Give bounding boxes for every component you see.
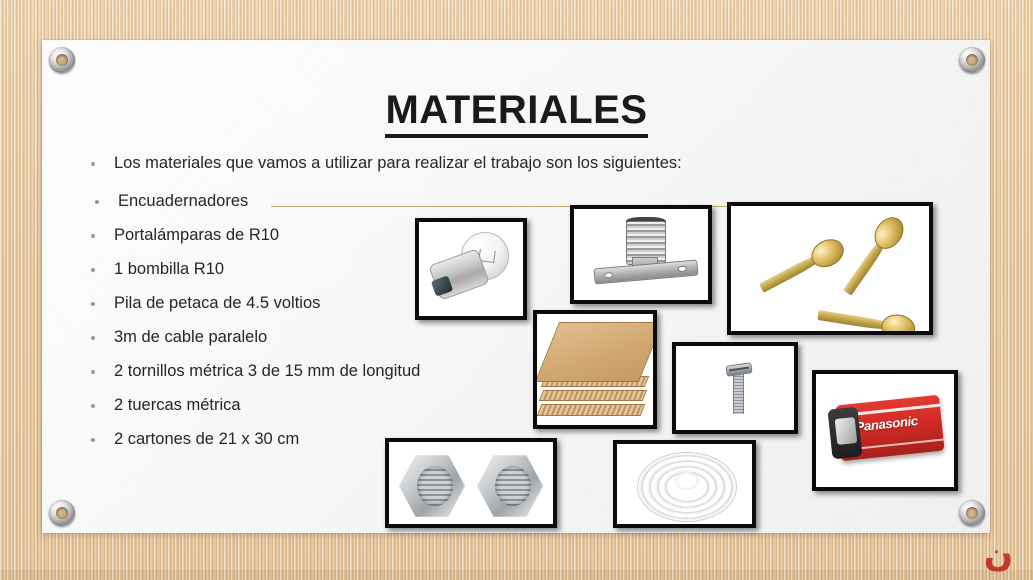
bullet-dot-icon <box>91 404 95 408</box>
list-item-label: 2 cartones de 21 x 30 cm <box>114 430 299 448</box>
photo-cardboard <box>533 310 657 429</box>
list-item: 1 bombilla R10 <box>86 261 224 278</box>
list-item: 2 tornillos métrica 3 de 15 mm de longit… <box>86 363 420 380</box>
list-item-label: 1 bombilla R10 <box>114 260 224 278</box>
list-item-label: Portalámparas de R10 <box>114 226 279 244</box>
bullet-dot-icon <box>95 200 99 204</box>
photo-bulb <box>415 218 527 320</box>
holder-screw-hole-icon <box>678 265 687 272</box>
bullet-dot-icon <box>91 438 95 442</box>
bullet-dot-icon <box>91 234 95 238</box>
list-item-label: 3m de cable paralelo <box>114 328 267 346</box>
slide-canvas: MATERIALES Los materiales que vamos a ut… <box>0 0 1033 580</box>
nut-icon <box>399 454 465 518</box>
page-title-text: MATERIALES <box>385 88 647 138</box>
bullet-dot-icon <box>91 302 95 306</box>
cardboard-image <box>537 314 653 425</box>
photo-nuts <box>385 438 557 528</box>
lamp-holder-image <box>574 209 708 300</box>
fastener-head-icon <box>879 312 917 335</box>
bullet-dot-icon <box>91 268 95 272</box>
grommet-top-right-icon <box>959 47 985 73</box>
bullet-dot-icon <box>91 336 95 340</box>
photo-screw <box>672 342 798 434</box>
grommet-bottom-left-icon <box>49 500 75 526</box>
cable-coil-center-icon <box>675 472 699 490</box>
annotation-mark: ن <box>984 538 1013 572</box>
list-item: Encuadernadores <box>90 193 248 210</box>
nut-icon <box>477 454 543 518</box>
list-item-label: Los materiales que vamos a utilizar para… <box>114 154 682 172</box>
photo-cable-coil <box>613 440 756 528</box>
bullet-dot-icon <box>91 370 95 374</box>
holder-screw-hole-icon <box>604 272 613 279</box>
cardboard-layer-icon <box>537 404 646 416</box>
photo-battery: Panasonic <box>812 370 958 491</box>
list-item: Portalámparas de R10 <box>86 227 279 244</box>
list-item: 2 cartones de 21 x 30 cm <box>86 431 299 448</box>
cardboard-layer-icon <box>539 390 647 401</box>
cable-coil-image <box>617 444 752 524</box>
nut-thread-icon <box>417 466 453 506</box>
bullet-dot-icon <box>91 162 95 166</box>
list-item-label: 2 tornillos métrica 3 de 15 mm de longit… <box>114 362 420 380</box>
photo-lamp-holder <box>570 205 712 304</box>
nuts-image <box>389 442 553 524</box>
battery-brand-label: Panasonic <box>855 413 919 434</box>
battery-terminal-icon <box>835 417 858 445</box>
bulb-image <box>419 222 523 316</box>
list-item: 3m de cable paralelo <box>86 329 267 346</box>
list-item-label: Pila de petaca de 4.5 voltios <box>114 294 320 312</box>
battery-image: Panasonic <box>816 374 954 487</box>
holder-bracket-icon <box>594 259 699 284</box>
list-item: 2 tuercas métrica <box>86 397 241 414</box>
list-item-label: Encuadernadores <box>118 192 248 210</box>
photo-paper-fasteners <box>727 202 933 335</box>
page-title: MATERIALES <box>0 88 1033 138</box>
grommet-top-left-icon <box>49 47 75 73</box>
list-item: Pila de petaca de 4.5 voltios <box>86 295 320 312</box>
screw-shaft-icon <box>733 374 744 414</box>
fastener-head-icon <box>806 234 848 273</box>
paper-fasteners-image <box>731 206 929 331</box>
list-item: Los materiales que vamos a utilizar para… <box>86 155 682 172</box>
screw-image <box>676 346 794 430</box>
nut-thread-icon <box>495 466 531 506</box>
grommet-bottom-right-icon <box>959 500 985 526</box>
list-item-label: 2 tuercas métrica <box>114 396 241 414</box>
cardboard-layer-icon <box>535 322 657 382</box>
